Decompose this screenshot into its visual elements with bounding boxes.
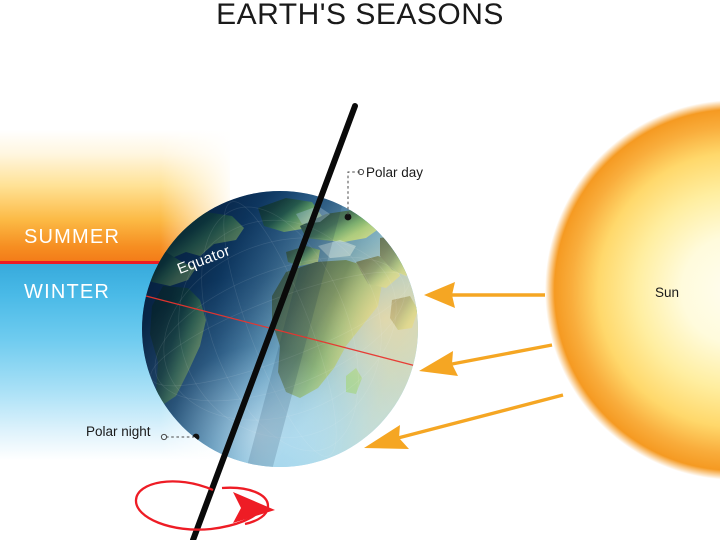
polar-day-marker (345, 214, 352, 221)
earth-continents (136, 185, 424, 473)
sun-ray-arrow-3 (398, 395, 563, 438)
sun-label: Sun (655, 285, 679, 300)
sun-ray-arrow-2 (452, 345, 552, 364)
polar-night-leader-dot (161, 434, 166, 439)
diagram-canvas: EARTH'S SEASONS SUMMER WINTER (0, 0, 720, 540)
polar-night-label: Polar night (86, 424, 151, 439)
sun-ray-arrowhead-1 (424, 282, 455, 308)
polar-day-label: Polar day (366, 165, 423, 180)
rotation-arrowhead-icon (233, 492, 275, 523)
scene-graphics (0, 0, 720, 540)
earth-globe (136, 185, 424, 473)
sun-graphic (545, 100, 720, 480)
